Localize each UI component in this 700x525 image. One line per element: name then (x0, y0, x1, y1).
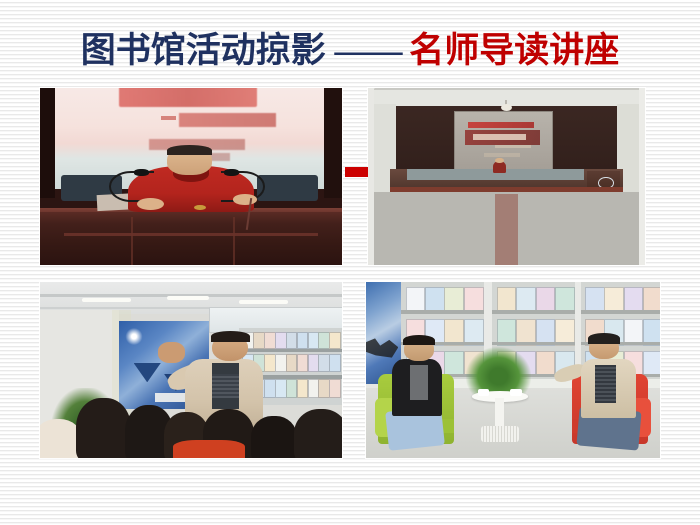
guest-right-hair (588, 333, 620, 344)
photo-interview (366, 282, 660, 458)
speaker-hair (167, 145, 212, 156)
microphone-head-left (134, 169, 149, 176)
bookshelf-rail-upper (239, 349, 342, 353)
audience-head (294, 409, 342, 458)
shelf-rail (401, 310, 483, 314)
audience-seat (563, 88, 598, 90)
podium-front (40, 212, 342, 265)
shelf-rail (492, 342, 574, 346)
ceiling-lamp-left (82, 298, 130, 302)
guest-left-shirt (410, 365, 428, 400)
podium-seam-left (131, 217, 133, 265)
page-title-highlight: 名师导读讲座 (409, 31, 619, 70)
ceiling-light (501, 104, 512, 111)
tea-cup-left (478, 389, 490, 396)
speaker-hand-left (137, 198, 164, 210)
speaker-hand-right (233, 194, 257, 205)
podium-seam-right (233, 217, 235, 265)
guest-left-hair (403, 335, 435, 346)
speaker-shirt-stripes (212, 374, 239, 399)
speaker-hair (211, 331, 250, 342)
book-on-shelf (329, 379, 341, 398)
red-accent-block (345, 167, 368, 177)
projected-subtitle-line (179, 113, 276, 127)
book-on-shelf (329, 332, 341, 349)
audience-seat (525, 88, 560, 90)
podium-moulding (64, 233, 318, 236)
hall-wall-left (40, 88, 55, 198)
audience-seat (450, 88, 485, 90)
stage-chair-right (257, 175, 317, 202)
audience-red-jacket (173, 440, 245, 458)
hall-wall-left (368, 88, 374, 265)
photo-lecture-speaker (40, 88, 342, 265)
projected-title-line (473, 134, 526, 140)
audience-head (251, 416, 296, 458)
hall-wall-right (639, 88, 645, 265)
speaker-raised-hand (158, 342, 185, 363)
shelf-rail (492, 310, 574, 314)
audience-seat (601, 88, 636, 90)
centre-aisle-carpet (495, 194, 517, 265)
projected-institution-line (468, 122, 534, 128)
side-table-stem (495, 398, 504, 430)
banner-graphic (125, 326, 143, 347)
projected-subtitle-line (495, 145, 531, 149)
side-table-base (481, 426, 519, 442)
page-title-main: 图书馆活动掠影 (81, 31, 326, 70)
audience-seat (374, 88, 409, 90)
hall-wall-right (324, 88, 342, 198)
shelf-rail (581, 310, 660, 314)
page-title: 图书馆活动掠影 —— 名师导读讲座 (0, 26, 700, 76)
projected-title-line (119, 88, 258, 107)
guest-right-shirt (595, 365, 616, 404)
page-title-dash: —— (335, 31, 401, 70)
ceiling-lamp-right (239, 300, 287, 304)
book-on-shelf (329, 354, 341, 373)
audience-seat (488, 88, 523, 90)
tea-cup-right (510, 389, 522, 396)
audience-seat (412, 88, 447, 90)
audience-head (76, 398, 130, 458)
projected-dash (161, 116, 176, 120)
ceiling-lamp-centre (167, 296, 209, 300)
photo-library-talk (40, 282, 342, 458)
stage-speaker-head (495, 158, 503, 163)
photo-auditorium (368, 88, 645, 265)
projected-presenter-line (484, 153, 520, 157)
